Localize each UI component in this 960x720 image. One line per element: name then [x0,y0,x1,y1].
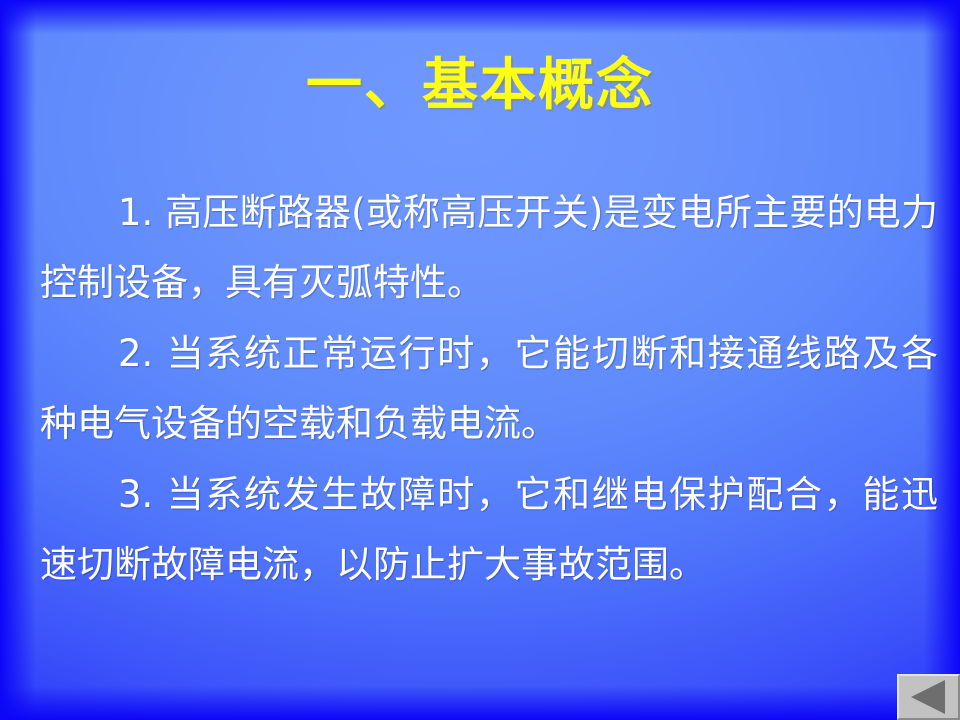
slide-body: 1. 高压断路器(或称高压开关)是变电所主要的电力控制设备，具有灭弧特性。 2.… [40,178,938,601]
body-paragraph-2: 2. 当系统正常运行时，它能切断和接通线路及各种电气设备的空载和负载电流。 [40,319,938,459]
presentation-slide: 一、基本概念 1. 高压断路器(或称高压开关)是变电所主要的电力控制设备，具有灭… [0,0,960,720]
body-paragraph-1: 1. 高压断路器(或称高压开关)是变电所主要的电力控制设备，具有灭弧特性。 [40,178,938,318]
body-paragraph-3: 3. 当系统发生故障时，它和继电保护配合，能迅速切断故障电流，以防止扩大事故范围… [40,460,938,600]
back-navigation-button[interactable] [897,674,960,720]
slide-title: 一、基本概念 [0,52,960,120]
triangle-left-icon [911,680,945,714]
slide-content-layer: 一、基本概念 1. 高压断路器(或称高压开关)是变电所主要的电力控制设备，具有灭… [0,0,960,720]
